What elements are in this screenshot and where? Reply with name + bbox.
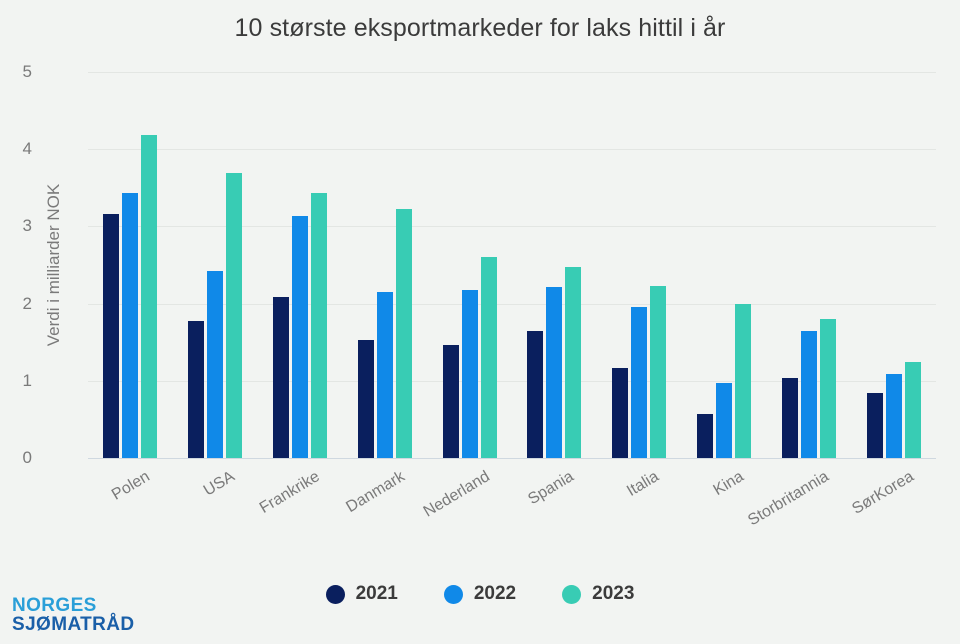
bar-sørkorea-2023[interactable] xyxy=(905,362,921,458)
legend-label: 2023 xyxy=(592,583,634,605)
chart-legend: 202120222023 xyxy=(0,583,960,605)
bar-frankrike-2023[interactable] xyxy=(311,193,327,458)
chart-page: 10 største eksportmarkeder for laks hitt… xyxy=(0,0,960,644)
bar-kina-2023[interactable] xyxy=(735,304,751,458)
bar-italia-2022[interactable] xyxy=(631,307,647,458)
bar-usa-2021[interactable] xyxy=(188,321,204,458)
y-axis-tick-label: 3 xyxy=(0,216,32,236)
bar-danmark-2023[interactable] xyxy=(396,209,412,458)
x-axis-tick-label: Danmark xyxy=(343,468,408,517)
bar-group xyxy=(851,72,936,458)
x-axis-tick-label: USA xyxy=(201,468,238,500)
x-axis-tick-label: Spania xyxy=(526,468,578,509)
y-axis-label: Verdi i milliarder NOK xyxy=(44,184,64,347)
legend-swatch-icon xyxy=(444,585,463,604)
bar-polen-2023[interactable] xyxy=(141,135,157,458)
bar-group xyxy=(427,72,512,458)
x-axis-tick-label: Kina xyxy=(711,468,748,500)
plot-area: Verdi i milliarder NOK 012345 xyxy=(88,72,936,458)
legend-label: 2021 xyxy=(356,583,398,605)
bar-usa-2022[interactable] xyxy=(207,271,223,458)
bar-group xyxy=(597,72,682,458)
bar-spania-2023[interactable] xyxy=(565,267,581,458)
bar-nederland-2022[interactable] xyxy=(462,290,478,458)
legend-swatch-icon xyxy=(562,585,581,604)
bar-spania-2022[interactable] xyxy=(546,287,562,458)
bar-polen-2022[interactable] xyxy=(122,193,138,458)
y-axis-tick-label: 5 xyxy=(0,62,32,82)
y-axis-tick-label: 2 xyxy=(0,294,32,314)
bar-sørkorea-2022[interactable] xyxy=(886,374,902,458)
bar-kina-2021[interactable] xyxy=(697,414,713,458)
bar-group xyxy=(512,72,597,458)
x-axis-tick-label: SørKorea xyxy=(849,468,917,519)
x-axis-tick-label: Italia xyxy=(624,468,662,501)
bar-group xyxy=(173,72,258,458)
bar-kina-2022[interactable] xyxy=(716,383,732,458)
chart-title: 10 største eksportmarkeder for laks hitt… xyxy=(0,14,960,43)
gridline xyxy=(88,458,936,459)
bar-spania-2021[interactable] xyxy=(527,331,543,458)
y-axis-tick-label: 1 xyxy=(0,371,32,391)
x-axis-tick-label: Nederland xyxy=(420,468,493,521)
y-axis-tick-label: 4 xyxy=(0,139,32,159)
legend-label: 2022 xyxy=(474,583,516,605)
brand-logo: NORGES SJØMATRÅD xyxy=(12,596,135,635)
bar-group xyxy=(682,72,767,458)
bar-storbritannia-2023[interactable] xyxy=(820,319,836,458)
legend-swatch-icon xyxy=(326,585,345,604)
bar-group xyxy=(766,72,851,458)
bar-group xyxy=(258,72,343,458)
bar-storbritannia-2022[interactable] xyxy=(801,331,817,458)
bar-danmark-2022[interactable] xyxy=(377,292,393,458)
bar-storbritannia-2021[interactable] xyxy=(782,378,798,458)
x-axis-tick-label: Frankrike xyxy=(257,468,323,518)
bar-sørkorea-2021[interactable] xyxy=(867,393,883,458)
bar-usa-2023[interactable] xyxy=(226,173,242,458)
logo-line-sjomatrad: SJØMATRÅD xyxy=(12,615,135,634)
bar-group xyxy=(88,72,173,458)
legend-item-2021[interactable]: 2021 xyxy=(326,583,398,605)
bar-danmark-2021[interactable] xyxy=(358,340,374,458)
y-axis-tick-label: 0 xyxy=(0,448,32,468)
bar-group xyxy=(342,72,427,458)
bar-frankrike-2021[interactable] xyxy=(273,297,289,458)
bar-groups xyxy=(88,72,936,458)
bar-nederland-2021[interactable] xyxy=(443,345,459,458)
x-axis-tick-label: Polen xyxy=(109,468,153,505)
bar-italia-2023[interactable] xyxy=(650,286,666,458)
logo-line-norges: NORGES xyxy=(12,596,135,615)
bar-italia-2021[interactable] xyxy=(612,368,628,458)
legend-item-2022[interactable]: 2022 xyxy=(444,583,516,605)
legend-item-2023[interactable]: 2023 xyxy=(562,583,634,605)
bar-frankrike-2022[interactable] xyxy=(292,216,308,458)
bar-polen-2021[interactable] xyxy=(103,214,119,458)
bar-nederland-2023[interactable] xyxy=(481,257,497,458)
x-axis-tick-label: Storbritannia xyxy=(745,468,832,530)
